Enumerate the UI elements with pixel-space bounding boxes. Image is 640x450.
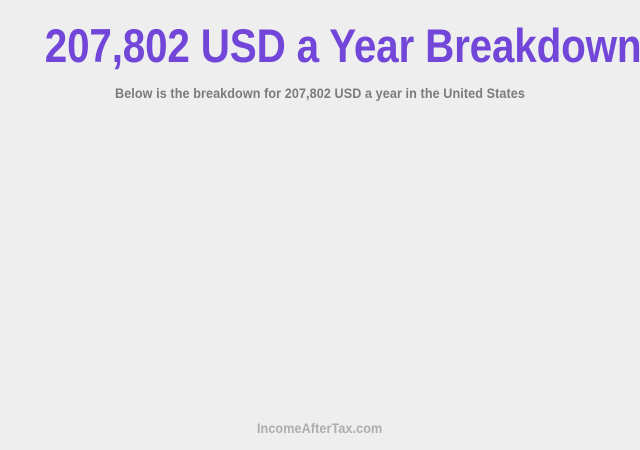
page-subtitle: Below is the breakdown for 207,802 USD a…: [32, 84, 608, 102]
footer-site-credit: IncomeAfterTax.com: [257, 420, 382, 436]
site-footer: IncomeAfterTax.com: [0, 420, 640, 438]
page-root: 207,802 USD a Year Breakdown Below is th…: [0, 0, 640, 450]
page-title: 207,802 USD a Year Breakdown: [45, 20, 595, 72]
main-content-area: [0, 115, 640, 410]
breakdown-chart-canvas: [0, 115, 640, 410]
